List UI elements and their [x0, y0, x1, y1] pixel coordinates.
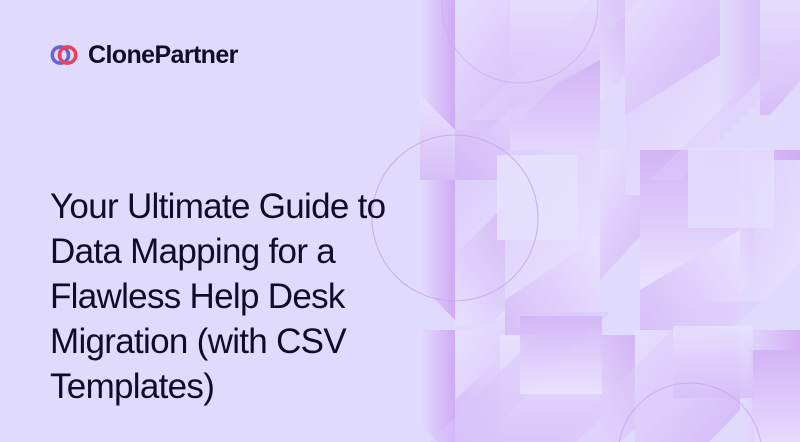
brand-logo-lockup[interactable]: ClonePartner [50, 41, 238, 69]
headline-line: Templates) [50, 364, 480, 409]
decorative-circle-outline [618, 383, 762, 442]
headline-block: Your Ultimate Guide to Data Mapping for … [50, 184, 480, 409]
headline-line: Data Mapping for a [50, 229, 480, 274]
brand-wordmark: ClonePartner [88, 43, 238, 68]
decorative-circle-outline [442, 0, 598, 83]
page-title: Your Ultimate Guide to Data Mapping for … [50, 184, 480, 409]
hero-card: ClonePartner Your Ultimate Guide to Data… [0, 0, 800, 442]
headline-line: Your Ultimate Guide to [50, 184, 480, 229]
headline-line: Flawless Help Desk [50, 274, 480, 319]
overlapping-rings-icon [50, 41, 78, 69]
headline-line: Migration (with CSV [50, 319, 480, 364]
